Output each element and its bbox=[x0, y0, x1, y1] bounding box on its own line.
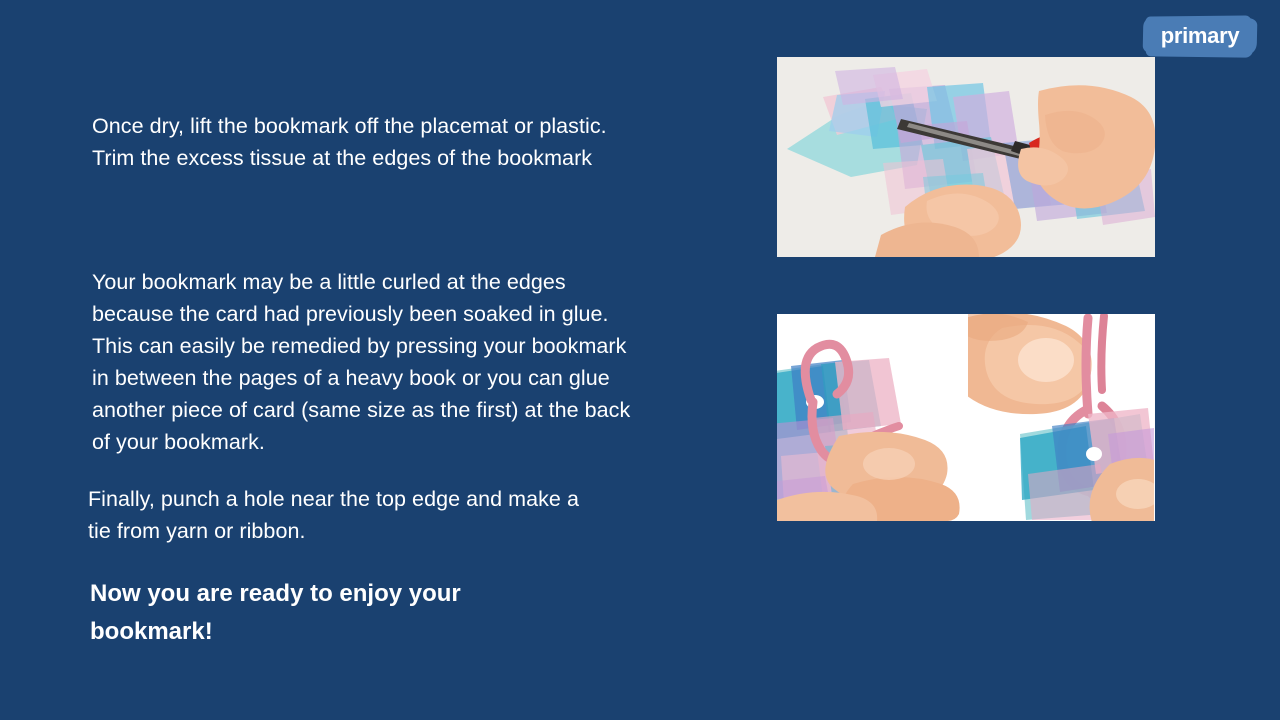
primary-logo: primary bbox=[1143, 18, 1257, 54]
ribbon-tie-photo bbox=[965, 314, 1156, 521]
paragraph-punch-hole: Finally, punch a hole near the top edge … bbox=[88, 483, 688, 547]
ribbon-tie-illustration bbox=[968, 314, 1154, 521]
ribbon-photo-pair bbox=[777, 314, 1155, 521]
paragraph-curling-advice: Your bookmark may be a little curled at … bbox=[92, 266, 717, 458]
trimming-bookmark-illustration bbox=[777, 57, 1155, 257]
trimming-bookmark-photo bbox=[777, 57, 1155, 257]
paragraph-trim-instructions: Once dry, lift the bookmark off the plac… bbox=[92, 110, 712, 174]
threading-ribbon-illustration bbox=[777, 314, 965, 521]
closing-statement: Now you are ready to enjoy your bookmark… bbox=[90, 575, 610, 651]
slide-canvas: primary Once dry, lift the bookmark off … bbox=[0, 0, 1280, 720]
logo-label: primary bbox=[1143, 18, 1257, 54]
threading-ribbon-photo bbox=[777, 314, 965, 521]
